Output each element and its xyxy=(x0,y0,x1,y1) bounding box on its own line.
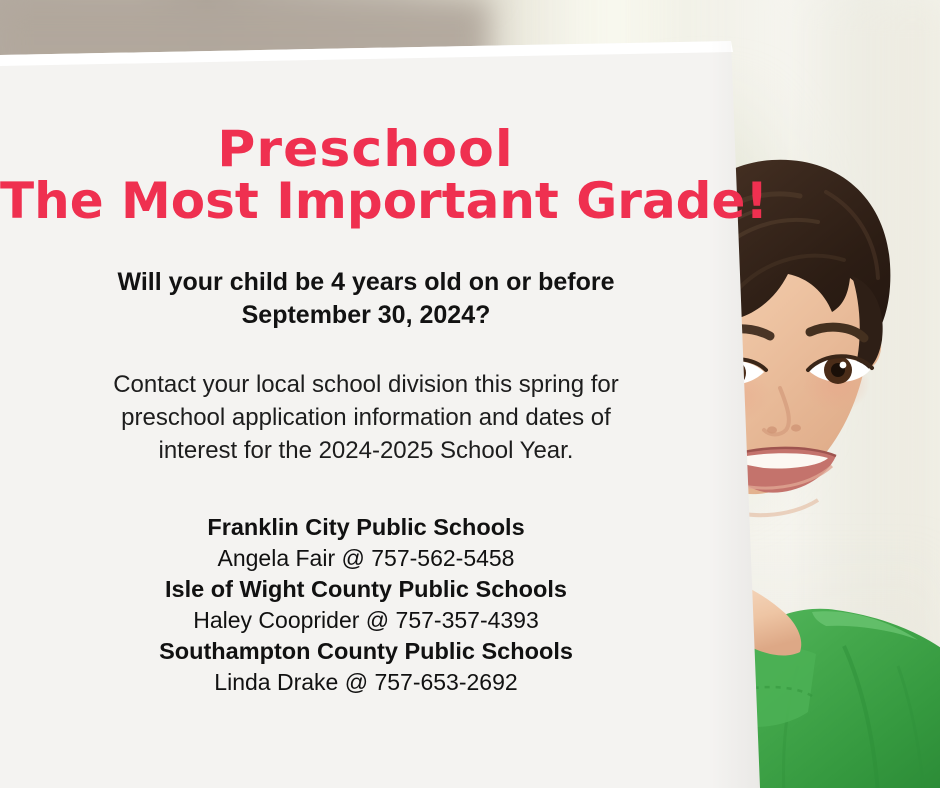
eligibility-question-line-2: September 30, 2024? xyxy=(66,299,666,332)
school-contact-info: Haley Cooprider @ 757-357-4393 xyxy=(46,605,686,636)
school-contact-info: Angela Fair @ 757-562-5458 xyxy=(46,543,686,574)
poster-content: Preschool The Most Important Grade! Will… xyxy=(0,0,731,788)
contact-entry: Isle of Wight County Public Schools Hale… xyxy=(46,574,686,636)
school-contact-info: Linda Drake @ 757-653-2692 xyxy=(46,667,686,698)
school-division-name: Franklin City Public Schools xyxy=(46,512,686,543)
preschool-flyer: Preschool The Most Important Grade! Will… xyxy=(0,0,940,788)
instructions-line-3: interest for the 2024-2025 School Year. xyxy=(56,434,676,467)
headline-line-1: Preschool xyxy=(0,124,746,174)
headline-line-2: The Most Important Grade! xyxy=(0,176,731,226)
instructions-paragraph: Contact your local school division this … xyxy=(56,368,676,467)
instructions-line-2: preschool application information and da… xyxy=(56,401,676,434)
contact-list: Franklin City Public Schools Angela Fair… xyxy=(46,512,686,697)
eligibility-question: Will your child be 4 years old on or bef… xyxy=(66,266,666,332)
school-division-name: Isle of Wight County Public Schools xyxy=(46,574,686,605)
instructions-line-1: Contact your local school division this … xyxy=(56,368,676,401)
school-division-name: Southampton County Public Schools xyxy=(46,636,686,667)
contact-entry: Southampton County Public Schools Linda … xyxy=(46,636,686,698)
contact-entry: Franklin City Public Schools Angela Fair… xyxy=(46,512,686,574)
eligibility-question-line-1: Will your child be 4 years old on or bef… xyxy=(66,266,666,299)
